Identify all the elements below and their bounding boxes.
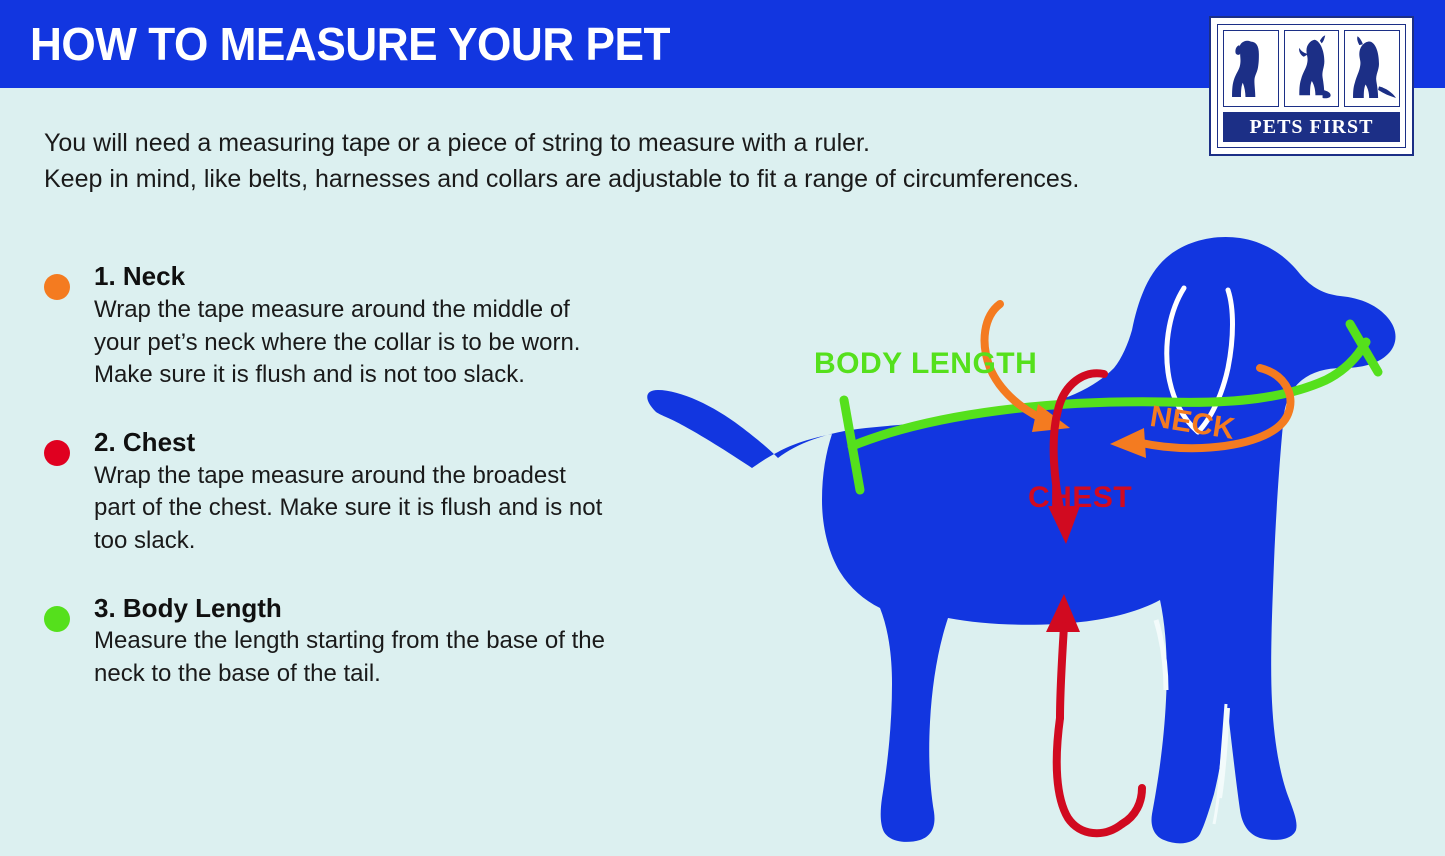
label-body-length: BODY LENGTH — [814, 347, 1037, 381]
step-title-body-length: 3. Body Length — [94, 594, 644, 624]
page-title: HOW TO MEASURE YOUR PET — [30, 17, 670, 71]
bullet-chest-icon — [44, 440, 70, 466]
sitting-dog-silhouette-icon — [1223, 30, 1279, 107]
step-body-chest: Wrap the tape measure around the broades… — [94, 460, 644, 558]
dog-measurement-diagram — [636, 222, 1436, 852]
step-body-body-length: Measure the length starting from the bas… — [94, 625, 644, 690]
step-body-neck-line-2: your pet’s neck where the collar is to b… — [94, 327, 644, 360]
step-item-neck: 1. Neck Wrap the tape measure around the… — [44, 262, 644, 392]
bullet-neck-icon — [44, 274, 70, 300]
step-body-body-length-line-1: Measure the length starting from the bas… — [94, 625, 644, 658]
step-body-body-length-line-2: neck to the base of the tail. — [94, 658, 644, 691]
intro-line-2: Keep in mind, like belts, harnesses and … — [44, 162, 1274, 198]
step-body-chest-line-3: too slack. — [94, 525, 644, 558]
step-body-chest-line-1: Wrap the tape measure around the broades… — [94, 460, 644, 493]
intro-line-1: You will need a measuring tape or a piec… — [44, 126, 1274, 162]
infographic-page: HOW TO MEASURE YOUR PET — [0, 0, 1445, 856]
shepherd-dog-silhouette-icon — [1344, 30, 1400, 107]
begging-dog-silhouette-icon — [1284, 30, 1340, 107]
steps-list: 1. Neck Wrap the tape measure around the… — [44, 262, 644, 723]
step-body-neck: Wrap the tape measure around the middle … — [94, 294, 644, 392]
intro-paragraph: You will need a measuring tape or a piec… — [44, 126, 1274, 197]
step-title-chest: 2. Chest — [94, 428, 644, 458]
label-chest: CHEST — [1028, 481, 1132, 515]
logo-dog-boxes — [1223, 30, 1400, 107]
step-item-chest: 2. Chest Wrap the tape measure around th… — [44, 428, 644, 558]
step-item-body-length: 3. Body Length Measure the length starti… — [44, 594, 644, 691]
dog-silhouette — [647, 237, 1395, 843]
step-body-chest-line-2: part of the chest. Make sure it is flush… — [94, 492, 644, 525]
step-body-neck-line-3: Make sure it is flush and is not too sla… — [94, 359, 644, 392]
bullet-body-length-icon — [44, 606, 70, 632]
step-body-neck-line-1: Wrap the tape measure around the middle … — [94, 294, 644, 327]
step-title-neck: 1. Neck — [94, 262, 644, 292]
